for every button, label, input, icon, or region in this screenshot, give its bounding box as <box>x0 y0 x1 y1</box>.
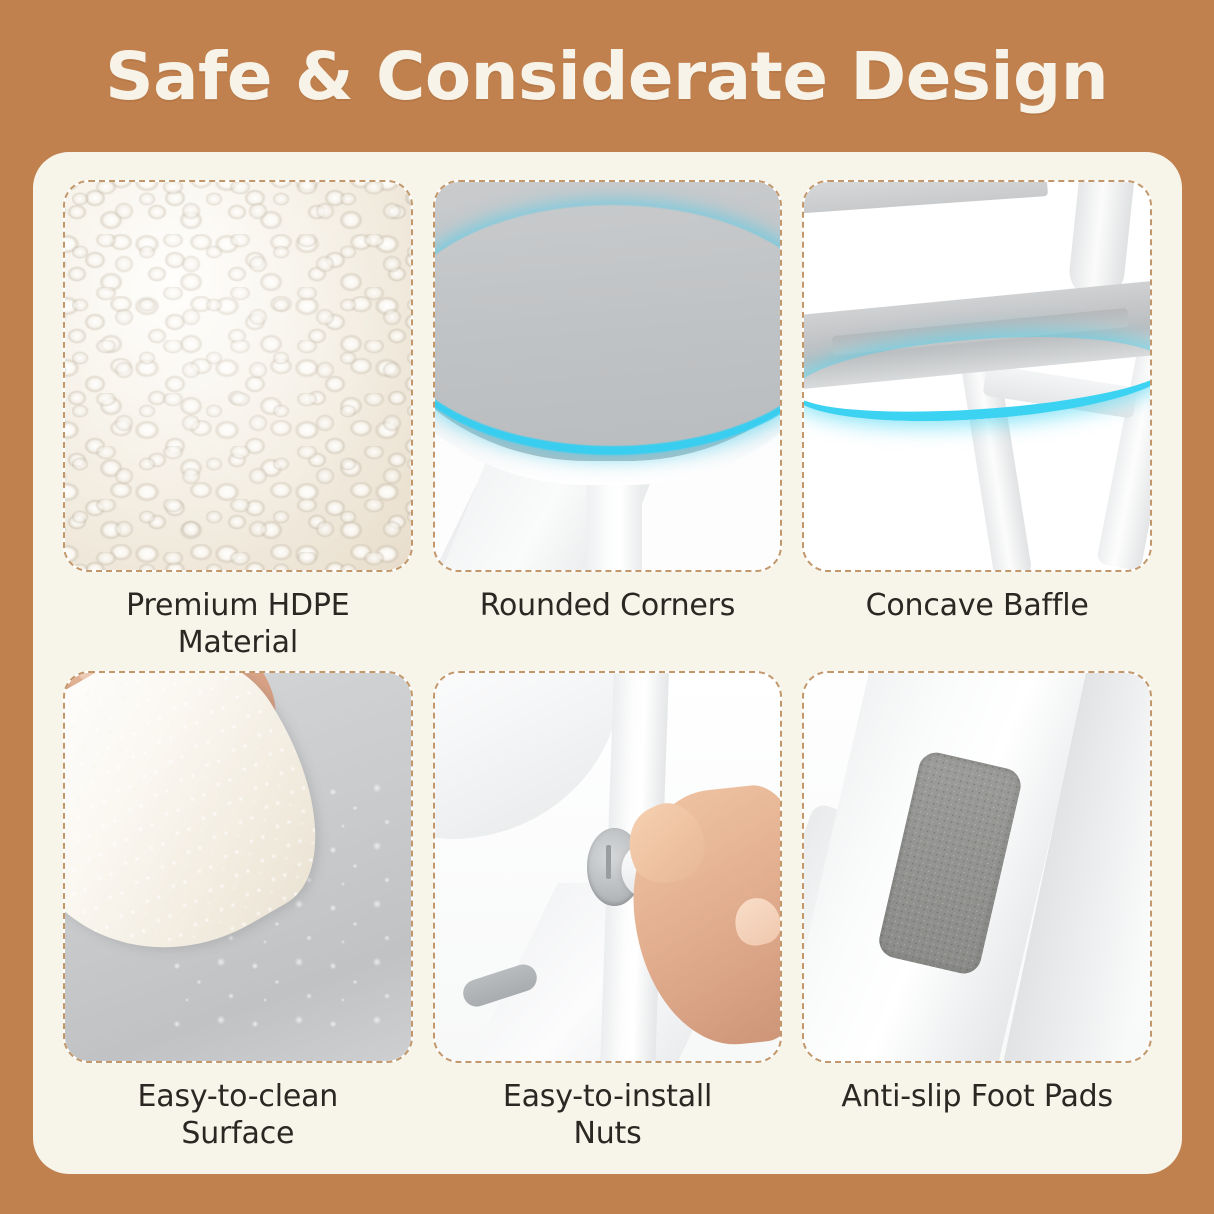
feature-item-rounded-corners: Rounded Corners <box>433 180 783 663</box>
hand-wiping-surface-photo <box>65 673 411 1061</box>
feature-item-easy-to-clean: Easy-to-clean Surface <box>63 671 413 1154</box>
concave-baffle-photo <box>804 182 1150 570</box>
hand-installing-nut-photo <box>435 673 781 1061</box>
feature-caption: Rounded Corners <box>480 588 736 625</box>
rounded-corner-seat-photo <box>435 182 781 570</box>
feature-image-tile <box>433 671 783 1063</box>
pellets-sheen-overlay <box>65 182 411 570</box>
feature-image-tile <box>63 180 413 572</box>
feature-caption: Anti-slip Foot Pads <box>841 1079 1113 1116</box>
product-feature-poster: Safe & Considerate Design Premium HDPE M… <box>0 0 1214 1214</box>
feature-image-tile <box>802 671 1152 1063</box>
hdpe-pellets-photo <box>65 182 411 570</box>
feature-item-easy-to-install-nuts: Easy-to-install Nuts <box>433 671 783 1154</box>
feature-image-tile <box>802 180 1152 572</box>
feature-item-concave-baffle: Concave Baffle <box>802 180 1152 663</box>
feature-caption: Easy-to-install Nuts <box>503 1079 712 1152</box>
feature-item-anti-slip-foot-pads: Anti-slip Foot Pads <box>802 671 1152 1154</box>
feature-image-tile <box>433 180 783 572</box>
cyan-highlight-arc <box>435 205 781 455</box>
feature-caption: Premium HDPE Material <box>126 588 349 661</box>
feature-grid: Premium HDPE Material Rounded Corners <box>63 180 1152 1154</box>
poster-header: Safe & Considerate Design <box>0 0 1214 152</box>
feature-card: Premium HDPE Material Rounded Corners <box>33 152 1182 1174</box>
anti-slip-foot-pad-photo <box>804 673 1150 1061</box>
feature-caption: Easy-to-clean Surface <box>138 1079 339 1152</box>
feature-caption: Concave Baffle <box>866 588 1089 625</box>
page-title: Safe & Considerate Design <box>106 38 1109 115</box>
feature-item-hdpe-material: Premium HDPE Material <box>63 180 413 663</box>
feature-image-tile <box>63 671 413 1063</box>
